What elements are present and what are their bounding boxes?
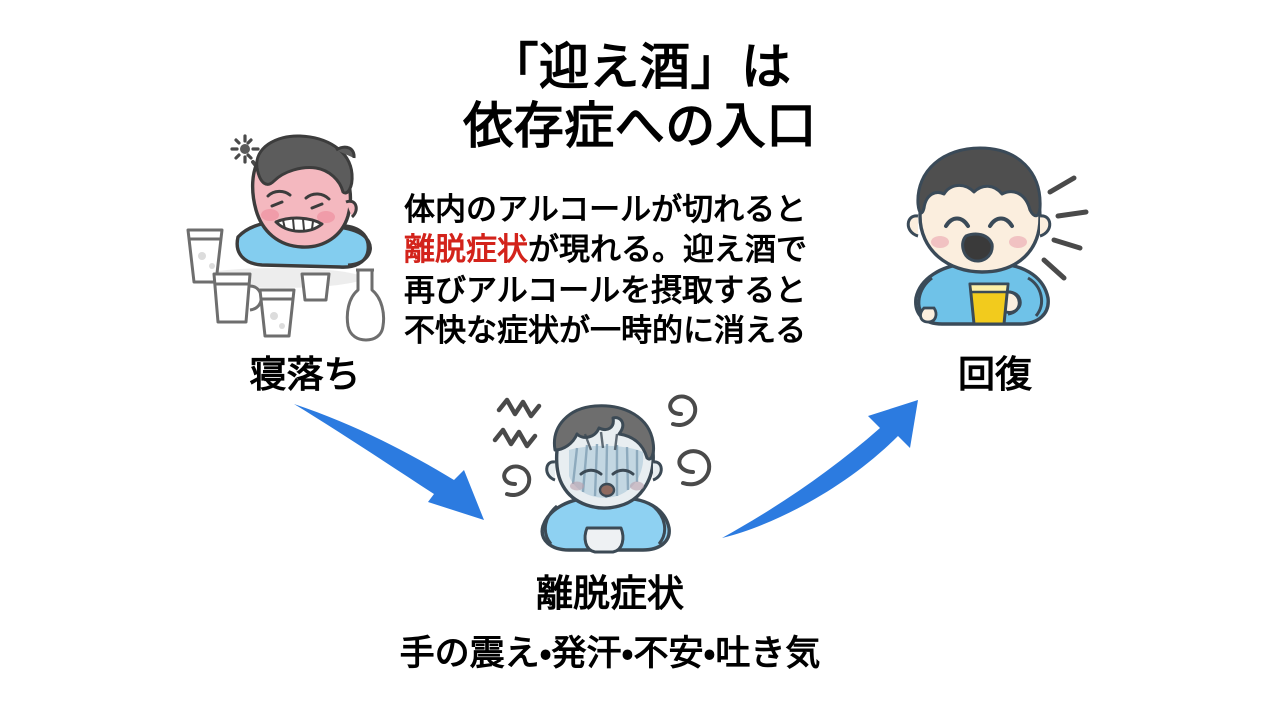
caption-stage-right: 回復 (890, 344, 1100, 398)
arrow-down-right (288, 398, 524, 534)
small-cup (302, 274, 329, 300)
caption-stage-middle-symptoms: 手の震え・発汗・不安・吐き気 (390, 625, 830, 676)
spiral-mark-right (670, 396, 709, 484)
caption-stage-left: 寝落ち (190, 344, 420, 398)
body-line-1: 体内のアルコールが切れると (404, 190, 890, 230)
highlight-withdrawal-symptoms: 離脱症状 (404, 232, 528, 268)
body-line-2: 離脱症状が現れる。迎え酒で (404, 230, 890, 270)
body-paragraph: 体内のアルコールが切れると 離脱症状が現れる。迎え酒で 再びアルコールを摂取する… (404, 190, 890, 351)
body-line-2-rest: が現れる。迎え酒で (528, 232, 807, 268)
page-title: 「迎え酒」は 依存症への入口 (360, 38, 920, 156)
illustration-recovered-man (898, 132, 1108, 344)
title-line-1: 「迎え酒」は (360, 38, 920, 97)
body-line-3: 再びアルコールを摂取すると (404, 271, 890, 311)
mid-figure-hands (585, 528, 623, 552)
slide-canvas: 「迎え酒」は 依存症への入口 体内のアルコールが切れると 離脱症状が現れる。迎え… (0, 0, 1280, 720)
mid-figure-mouth (600, 484, 614, 496)
drink-glass-2 (260, 290, 294, 336)
title-line-2: 依存症への入口 (360, 97, 920, 156)
arrow-up-right (718, 398, 954, 544)
illustration-drunk-man-slumped (150, 118, 398, 346)
caption-stage-middle: 離脱症状 (455, 563, 765, 617)
body-line-4: 不快な症状が一時的に消える (404, 311, 890, 351)
right-figure-mouth (963, 234, 993, 261)
